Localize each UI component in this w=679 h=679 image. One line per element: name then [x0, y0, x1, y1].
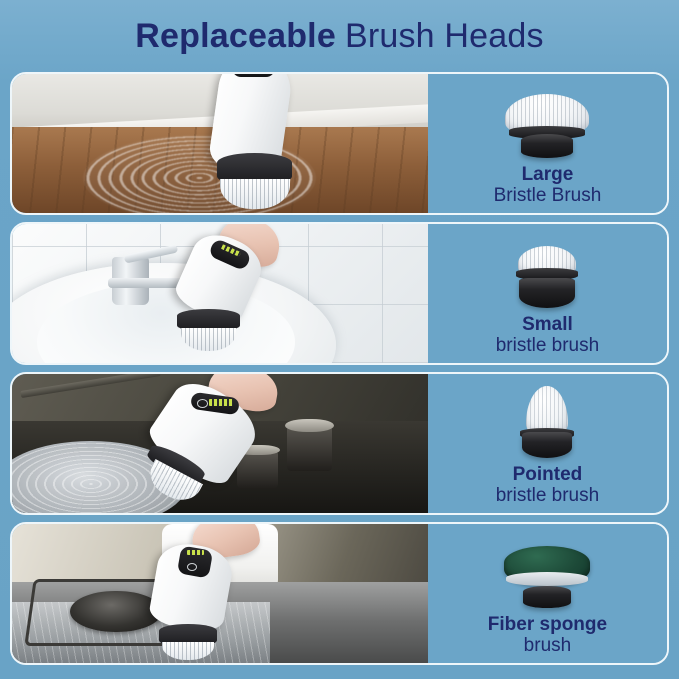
battery-led-indicator [187, 550, 204, 555]
battery-led-indicator [209, 399, 233, 406]
power-button-icon [197, 399, 208, 408]
counter-jar-shape [287, 424, 333, 471]
bristle-cone-shape [526, 386, 568, 434]
caption-line-2: bristle brush [496, 486, 600, 506]
small-bristle-brush-head-icon [428, 230, 667, 308]
brush-head-panel-large[interactable]: Large Bristle Brush [10, 72, 669, 215]
bathroom-sink-scene [12, 224, 428, 363]
brush-head-label-pointed: Pointed bristle brush [428, 374, 667, 513]
scrubber-on-bathroom-sink-photo [12, 224, 428, 363]
brush-head-panel-pointed[interactable]: Pointed bristle brush [10, 372, 669, 515]
scrubber-on-stovetop-photo [12, 524, 428, 663]
caption-line-2: brush [488, 636, 607, 656]
page-title-regular: Brush Heads [345, 17, 544, 55]
scrubber-device [195, 74, 320, 213]
stovetop-scene [12, 524, 428, 663]
caption-line-2: Bristle Brush [494, 186, 602, 206]
caption-line-2: bristle brush [496, 336, 600, 356]
brush-head-caption: Pointed bristle brush [496, 465, 600, 513]
brush-head-label-fiber-sponge: Fiber sponge brush [428, 524, 667, 663]
brush-head-label-small: Small bristle brush [428, 224, 667, 363]
brush-head-panel-small[interactable]: Small bristle brush [10, 222, 669, 365]
brush-bristles [181, 328, 237, 351]
page-title: ReplaceableBrush Heads [0, 0, 679, 72]
wood-floor-scene [12, 74, 428, 213]
brush-bristles [220, 179, 290, 209]
scrubber-on-wood-floor-photo [12, 74, 428, 213]
brush-head-label-large: Large Bristle Brush [428, 74, 667, 213]
brush-head-panel-fiber-sponge[interactable]: Fiber sponge brush [10, 522, 669, 665]
page-title-text: ReplaceableBrush Heads [135, 19, 543, 53]
page-title-bold: Replaceable [135, 17, 336, 55]
brush-base-shape [523, 586, 571, 608]
caption-line-1: Fiber sponge [488, 615, 607, 635]
caption-line-1: Small [496, 315, 600, 335]
brush-bristles [162, 642, 214, 660]
scrubber-device [137, 377, 287, 510]
brush-head-caption: Small bristle brush [496, 315, 600, 363]
scrubber-device [137, 532, 262, 660]
caption-line-1: Pointed [496, 465, 600, 485]
fiber-sponge-head-icon [428, 530, 667, 608]
brush-head-caption: Fiber sponge brush [488, 615, 607, 663]
sink-drain-scene [12, 374, 428, 513]
brush-head-panel-list: Large Bristle Brush [0, 72, 679, 673]
scrubber-on-sink-drain-photo [12, 374, 428, 513]
pointed-bristle-brush-head-icon [428, 380, 667, 458]
brush-base-shape [519, 278, 575, 308]
brush-base-shape [521, 134, 573, 158]
brush-base-shape [522, 432, 572, 458]
product-infographic-poster: ReplaceableBrush Heads [0, 0, 679, 679]
brush-head-caption: Large Bristle Brush [494, 165, 602, 213]
caption-line-1: Large [494, 165, 602, 185]
large-bristle-brush-head-icon [428, 80, 667, 158]
sponge-rim-shape [506, 572, 588, 586]
scrubber-device [170, 227, 286, 360]
